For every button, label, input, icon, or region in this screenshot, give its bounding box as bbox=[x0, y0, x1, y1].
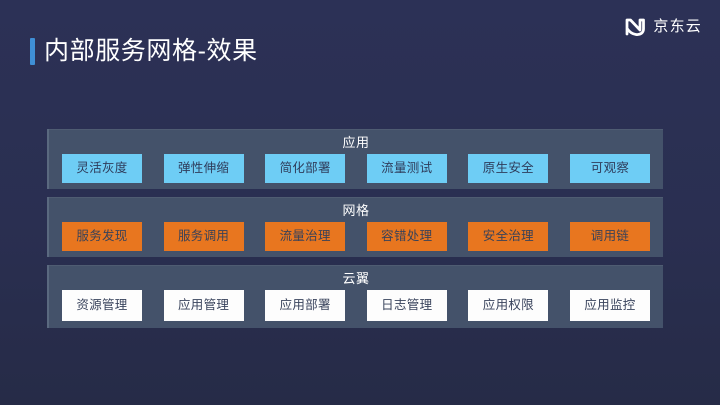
chip-mesh-4[interactable]: 容错处理 bbox=[367, 222, 447, 251]
panel-application-items: 灵活灰度 弹性伸缩 简化部署 流量测试 原生安全 可观察 bbox=[49, 154, 663, 183]
panel-yunyi-title: 云翼 bbox=[49, 270, 663, 287]
title-accent-bar bbox=[30, 38, 35, 65]
page-title-text: 内部服务网格-效果 bbox=[44, 38, 258, 65]
panel-mesh: 网格 服务发现 服务调用 流量治理 容错处理 安全治理 调用链 bbox=[47, 197, 663, 257]
chip-yunyi-2[interactable]: 应用管理 bbox=[164, 290, 244, 321]
chip-application-1[interactable]: 灵活灰度 bbox=[62, 154, 142, 183]
panel-mesh-title: 网格 bbox=[49, 202, 663, 219]
chip-mesh-6[interactable]: 调用链 bbox=[570, 222, 650, 251]
panel-mesh-items: 服务发现 服务调用 流量治理 容错处理 安全治理 调用链 bbox=[49, 222, 663, 251]
brand-logo: 京东云 bbox=[625, 17, 702, 37]
chip-yunyi-5[interactable]: 应用权限 bbox=[468, 290, 548, 321]
chip-mesh-5[interactable]: 安全治理 bbox=[468, 222, 548, 251]
jd-cloud-logo-icon bbox=[625, 17, 647, 37]
chip-yunyi-4[interactable]: 日志管理 bbox=[367, 290, 447, 321]
chip-mesh-2[interactable]: 服务调用 bbox=[164, 222, 244, 251]
chip-yunyi-1[interactable]: 资源管理 bbox=[62, 290, 142, 321]
panel-application-title: 应用 bbox=[49, 134, 663, 151]
architecture-stack: 应用 灵活灰度 弹性伸缩 简化部署 流量测试 原生安全 可观察 网格 服务发现 … bbox=[47, 129, 663, 336]
chip-yunyi-6[interactable]: 应用监控 bbox=[570, 290, 650, 321]
chip-mesh-3[interactable]: 流量治理 bbox=[265, 222, 345, 251]
chip-application-4[interactable]: 流量测试 bbox=[367, 154, 447, 183]
chip-application-2[interactable]: 弹性伸缩 bbox=[164, 154, 244, 183]
chip-application-6[interactable]: 可观察 bbox=[570, 154, 650, 183]
slide-header: 内部服务网格-效果 京东云 bbox=[0, 0, 720, 96]
panel-yunyi: 云翼 资源管理 应用管理 应用部署 日志管理 应用权限 应用监控 bbox=[47, 265, 663, 328]
panel-yunyi-items: 资源管理 应用管理 应用部署 日志管理 应用权限 应用监控 bbox=[49, 290, 663, 321]
brand-logo-text: 京东云 bbox=[653, 17, 702, 37]
chip-application-3[interactable]: 简化部署 bbox=[265, 154, 345, 183]
slide-canvas: 内部服务网格-效果 京东云 应用 灵活灰度 弹性伸缩 简化部署 流量测试 原生安… bbox=[0, 0, 720, 405]
page-title: 内部服务网格-效果 bbox=[30, 38, 258, 65]
chip-yunyi-3[interactable]: 应用部署 bbox=[265, 290, 345, 321]
panel-application: 应用 灵活灰度 弹性伸缩 简化部署 流量测试 原生安全 可观察 bbox=[47, 129, 663, 189]
chip-mesh-1[interactable]: 服务发现 bbox=[62, 222, 142, 251]
chip-application-5[interactable]: 原生安全 bbox=[468, 154, 548, 183]
